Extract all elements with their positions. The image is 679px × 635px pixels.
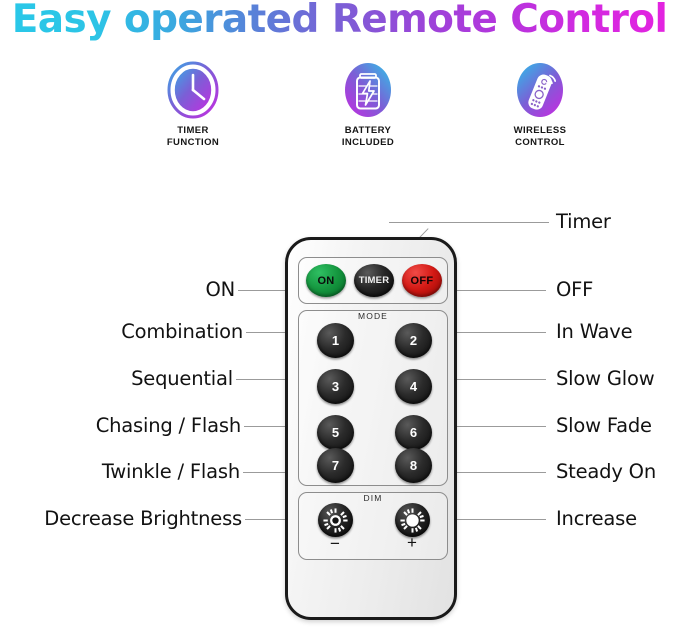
mode-button-6[interactable]: 6 [395,415,432,450]
feature-caption-line2: INCLUDED [342,137,394,148]
off-button[interactable]: OFF [402,264,442,297]
mode-panel-label: MODE [299,311,447,321]
leader-line-on [238,290,290,291]
leader-line-timer [389,222,549,223]
dim-panel-label: DIM [299,493,447,503]
callout-slow-fade: Slow Fade [556,415,652,437]
page-title: Easy operated Remote Control [0,0,679,42]
feature-caption-line2: FUNCTION [167,137,219,148]
feature-timer-function: TIMER FUNCTION [123,60,263,148]
infographic-canvas: Easy operated Remote Control [0,0,679,635]
dim-increase-sign: + [401,533,423,553]
feature-caption-line1: BATTERY [345,125,392,136]
mode-button-5[interactable]: 5 [317,415,354,450]
callout-off: OFF [556,279,593,301]
power-panel: ON TIMER OFF [298,257,448,304]
callout-twinkle-flash: Twinkle / Flash [10,461,240,483]
callout-on: ON [20,279,235,301]
feature-wireless-caption: WIRELESS CONTROL [470,125,610,148]
leader-line-steadyon [452,472,546,473]
clock-icon [166,60,220,120]
mode-button-4[interactable]: 4 [395,369,432,404]
feature-wireless-control: WIRELESS CONTROL [470,60,610,148]
callout-sequential: Sequential [20,368,233,390]
sun-large-icon [399,507,426,534]
callout-decrease-brightness: Decrease Brightness [4,508,242,530]
callout-increase: Increase [556,508,637,530]
leader-line-sequential [236,379,292,380]
remote-control-device: ON TIMER OFF MODE 1 2 3 4 5 6 7 8 DIM [285,237,457,620]
dim-increase-button[interactable] [395,503,430,537]
timer-button[interactable]: TIMER [354,264,394,297]
callout-chasing-flash: Chasing / Flash [10,415,241,437]
callout-timer: Timer [556,211,611,233]
leader-line-off [452,290,546,291]
dim-panel: DIM [298,492,448,560]
sun-small-icon [322,507,349,534]
leader-line-increase [452,519,546,520]
feature-battery-included: BATTERY INCLUDED [298,60,438,148]
remote-signal-icon [513,60,567,120]
mode-button-8[interactable]: 8 [395,448,432,483]
leader-line-inwave [452,332,546,333]
leader-line-slowglow [452,379,546,380]
mode-button-3[interactable]: 3 [317,369,354,404]
feature-badges: TIMER FUNCTION [0,60,679,150]
battery-icon [341,60,395,120]
feature-battery-caption: BATTERY INCLUDED [298,125,438,148]
feature-caption-line1: TIMER [177,125,209,136]
callout-in-wave: In Wave [556,321,632,343]
mode-panel: MODE 1 2 3 4 5 6 7 8 [298,310,448,486]
callout-combination: Combination [20,321,243,343]
mode-button-7[interactable]: 7 [317,448,354,483]
dim-decrease-sign: − [324,534,346,554]
feature-caption-line2: CONTROL [515,137,565,148]
feature-timer-caption: TIMER FUNCTION [123,125,263,148]
leader-line-slowfade [452,426,546,427]
mode-button-2[interactable]: 2 [395,323,432,358]
on-button[interactable]: ON [306,264,346,297]
dim-decrease-button[interactable] [318,503,353,537]
callout-slow-glow: Slow Glow [556,368,654,390]
mode-button-1[interactable]: 1 [317,323,354,358]
feature-caption-line1: WIRELESS [514,125,567,136]
callout-steady-on: Steady On [556,461,656,483]
